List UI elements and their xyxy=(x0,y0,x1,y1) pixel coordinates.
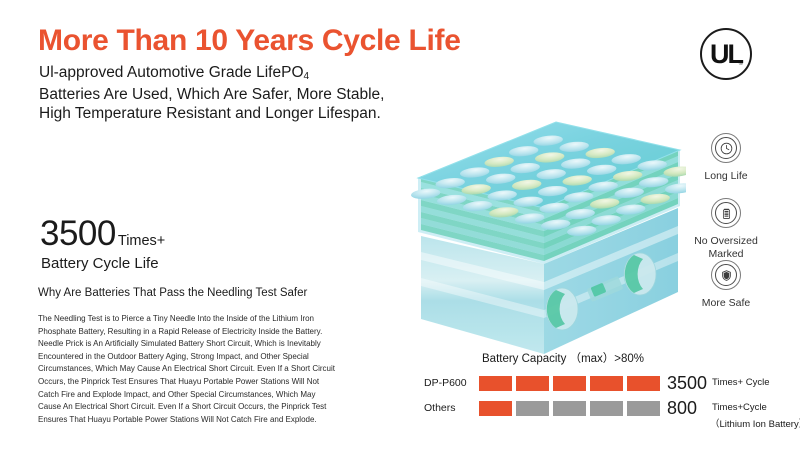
bar-segment xyxy=(479,401,512,416)
chart-row-subnote: （Lithium Ion Battery） xyxy=(710,416,800,430)
subheading-rest: Batteries Are Used, Which Are Safer, Mor… xyxy=(39,86,384,123)
stat-unit: Times+ xyxy=(118,233,165,249)
cycle-life-stat: 3500 Times+ xyxy=(40,216,165,251)
article-heading: Why Are Batteries That Pass the Needling… xyxy=(38,287,307,299)
ul-certification-badge: UL ® xyxy=(700,28,752,80)
chart-row-label: DP-P600 xyxy=(424,377,479,389)
article-paragraph: The Needling Test is to Pierce a Tiny Ne… xyxy=(38,313,338,426)
battery-capacity-chart: Battery Capacity （max）>80% DP-P600 3500 … xyxy=(424,350,796,446)
bar-segment xyxy=(627,401,660,416)
bar-segment xyxy=(590,376,623,391)
bar-segment xyxy=(627,376,660,391)
chart-title: Battery Capacity （max）>80% xyxy=(482,350,644,366)
chart-row-label: Others xyxy=(424,402,479,414)
feature-no-oversized-marked: No Oversized Marked xyxy=(656,198,796,261)
icon-ring-outer xyxy=(711,198,741,228)
chemical-subscript: 4 xyxy=(304,71,310,82)
feature-label: No Oversized Marked xyxy=(656,235,796,261)
chart-bar-track xyxy=(479,376,660,391)
battery-stack-render xyxy=(396,104,686,354)
chart-row-dp-p600: DP-P600 3500 Times+ Cycle xyxy=(424,375,770,391)
poster-canvas: More Than 10 Years Cycle Life Ul-approve… xyxy=(0,0,800,450)
feature-label: More Safe xyxy=(656,297,796,310)
bar-segment xyxy=(590,401,623,416)
stat-caption: Battery Cycle Life xyxy=(41,255,159,272)
chart-row-value: 800 xyxy=(667,399,707,417)
battery-icon xyxy=(715,202,737,224)
bar-segment xyxy=(516,376,549,391)
bar-segment xyxy=(479,376,512,391)
bar-segment xyxy=(516,401,549,416)
registered-mark: ® xyxy=(739,61,743,67)
ul-logo-text: UL xyxy=(710,39,742,69)
feature-more-safe: More Safe xyxy=(656,260,796,310)
feature-label: Long Life xyxy=(656,170,796,183)
chart-row-note: Times+ Cycle xyxy=(712,377,769,389)
page-title: More Than 10 Years Cycle Life xyxy=(38,24,461,58)
ul-logo-icon: UL ® xyxy=(710,41,742,68)
chart-row-value: 3500 xyxy=(667,374,707,392)
icon-ring-outer xyxy=(711,133,741,163)
bar-segment xyxy=(553,401,586,416)
bar-segment xyxy=(553,376,586,391)
icon-ring-outer xyxy=(711,260,741,290)
chart-row-note: Times+Cycle xyxy=(712,402,767,414)
subheading-line-1: Ul-approved Automotive Grade LifePO xyxy=(39,64,304,81)
chart-row-others: Others 800 Times+Cycle xyxy=(424,400,767,416)
stat-number: 3500 xyxy=(40,216,116,251)
subheading: Ul-approved Automotive Grade LifePO4 Bat… xyxy=(39,63,384,124)
feature-long-life: Long Life xyxy=(656,133,796,183)
clock-icon xyxy=(715,137,737,159)
shield-icon xyxy=(715,264,737,286)
chart-bar-track xyxy=(479,401,660,416)
article-body: The Needling Test is to Pierce a Tiny Ne… xyxy=(38,313,338,426)
